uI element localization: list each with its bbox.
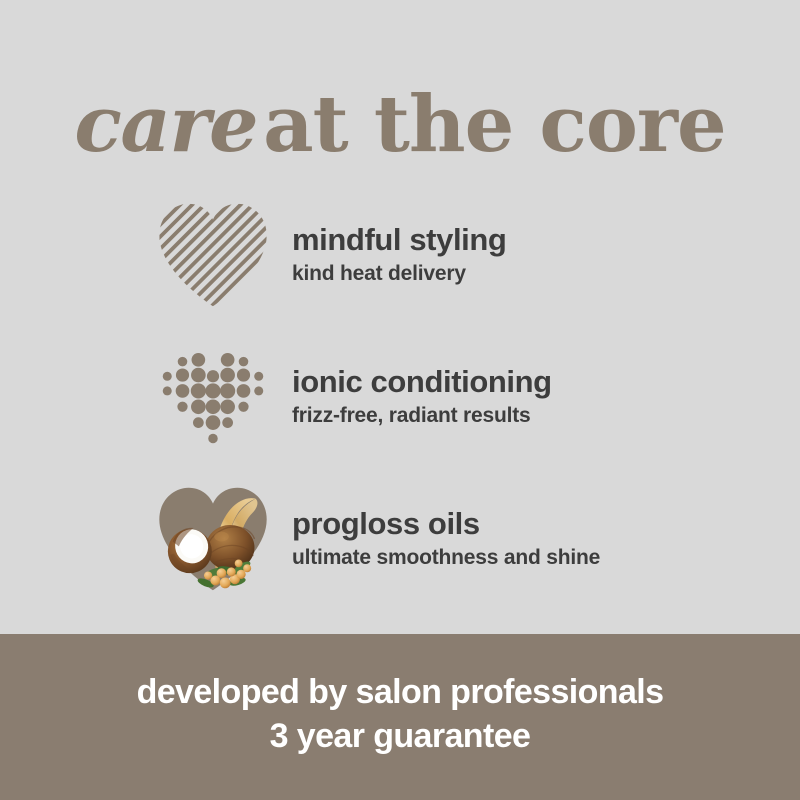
feature-row-mindful-styling: mindful styling kind heat delivery [0,190,800,320]
feature-subtitle: ultimate smoothness and shine [292,544,600,572]
promo-infographic: careat the core [0,0,800,800]
page-title: careat the core [0,82,800,168]
feature-subtitle: frizz-free, radiant results [292,402,552,430]
banner-line-2: 3 year guarantee [270,714,531,758]
page-title-upright-part: at the core [263,79,725,170]
feature-row-progloss-oils: progloss oils ultimate smoothness and sh… [0,474,800,604]
bottom-banner: developed by salon professionals 3 year … [0,634,800,800]
dotted-heart-icon [152,336,274,458]
feature-subtitle: kind heat delivery [292,260,506,288]
feature-title: ionic conditioning [292,364,552,400]
feature-text-progloss-oils: progloss oils ultimate smoothness and sh… [292,506,600,572]
striped-heart-icon [152,194,274,316]
feature-row-ionic-conditioning: ionic conditioning frizz-free, radiant r… [0,332,800,462]
feature-title: progloss oils [292,506,600,542]
feature-list: mindful styling kind heat delivery [0,190,800,616]
coconut-oils-heart-icon [152,478,274,600]
page-title-italic-part: care [74,79,263,170]
feature-text-mindful-styling: mindful styling kind heat delivery [292,222,506,288]
feature-text-ionic-conditioning: ionic conditioning frizz-free, radiant r… [292,364,552,430]
banner-line-1: developed by salon professionals [137,670,664,714]
feature-title: mindful styling [292,222,506,258]
